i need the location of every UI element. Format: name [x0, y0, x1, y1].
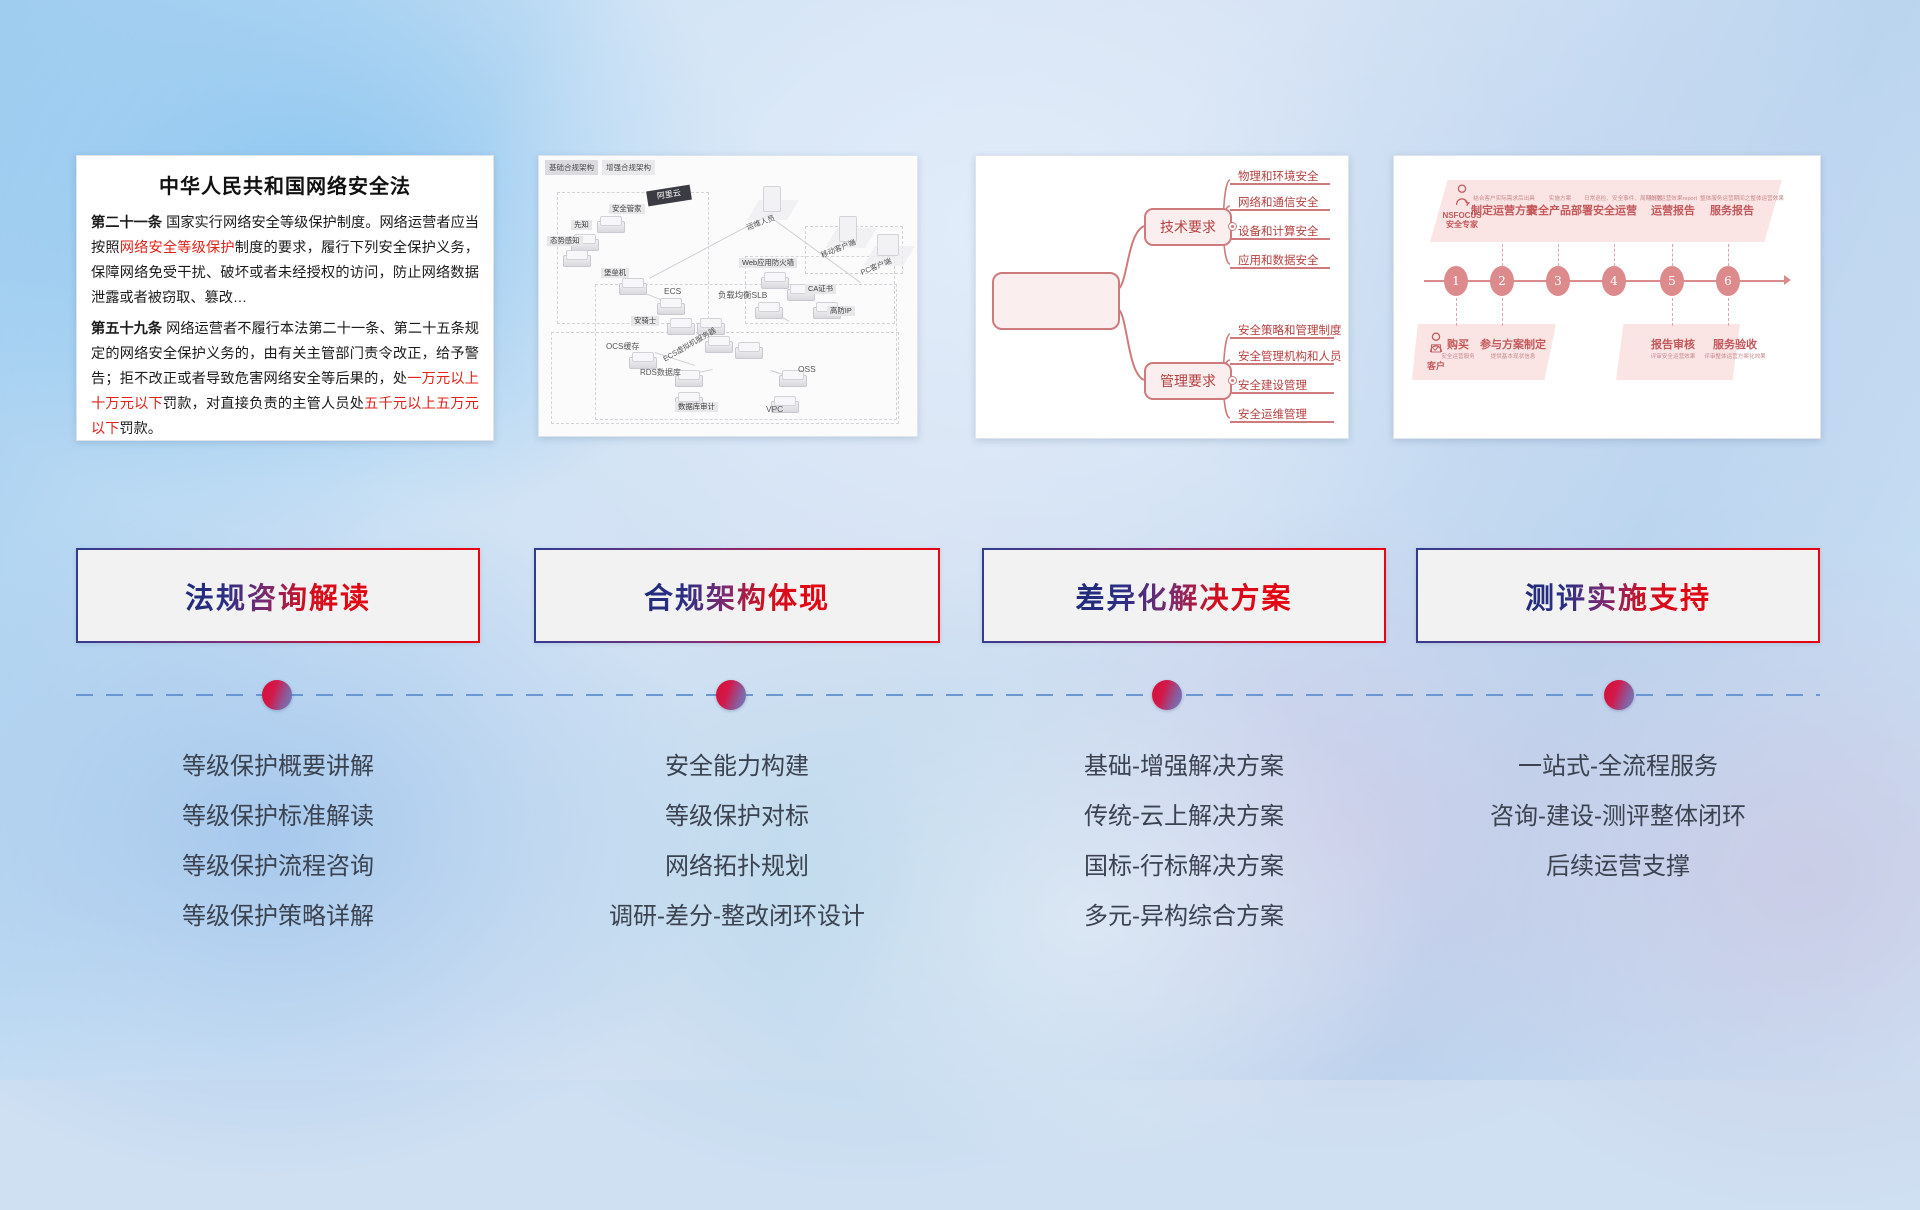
timeline-node-3[interactable]: 3: [1546, 266, 1570, 296]
card-cybersecurity-law: 中华人民共和国网络安全法 第二十一条 国家实行网络安全等级保护制度。网络运营者应…: [76, 155, 494, 441]
timeline-customer-step-1-title: 购买: [1436, 336, 1480, 352]
timeline-node-5[interactable]: 5: [1660, 266, 1684, 296]
timeline-customer-step-2-title: 参与方案制定: [1478, 336, 1548, 352]
mindmap-root-node: [992, 272, 1120, 330]
list-item: 等级保护概要讲解: [76, 742, 480, 792]
timeline-customer-step-2-desc: 提供基本现状信息: [1478, 352, 1548, 360]
section-title-box-3[interactable]: 差异化解决方案: [982, 548, 1386, 643]
law-title: 中华人民共和国网络安全法: [91, 170, 479, 199]
mindmap-collapse-dot-management[interactable]: [1228, 376, 1237, 385]
list-item: 基础-增强解决方案: [982, 742, 1386, 792]
timeline-node-1[interactable]: 1: [1444, 266, 1468, 296]
timeline-customer-step-1-desc: 安全运营服务: [1436, 352, 1480, 360]
feature-list-2: 安全能力构建 等级保护对标 网络拓扑规划 调研-差分-整改闭环设计: [534, 742, 940, 942]
feature-list-1: 等级保护概要讲解 等级保护标准解读 等级保护流程咨询 等级保护策略详解: [76, 742, 480, 942]
architecture-icon-pc: [877, 234, 899, 256]
card-service-timeline: NSFOCUS 安全专家 客户 1 2 3 4 5 6: [1393, 155, 1821, 439]
mindmap-branch-technical: 技术要求: [1144, 208, 1232, 246]
timeline-connector-c2: [1502, 298, 1503, 326]
architecture-node-bastion: [619, 278, 645, 294]
law-article-59-text-c: 罚款。: [119, 421, 162, 437]
list-item: 等级保护标准解读: [76, 792, 480, 842]
architecture-label-vpc: VPC: [763, 404, 786, 415]
timeline-customer-step-2: 参与方案制定 提供基本现状信息: [1478, 336, 1548, 360]
rail-dot-1[interactable]: [262, 680, 292, 710]
timeline-node-2[interactable]: 2: [1490, 266, 1514, 296]
mindmap-leaf-org: 安全管理机构和人员: [1238, 348, 1342, 364]
timeline-customer-role: 客户: [1416, 359, 1456, 372]
section-title-text-4: 测评实施支持: [1525, 575, 1711, 617]
timeline-customer-step-3: 报告审核 评审安全运营效果: [1642, 336, 1704, 360]
timeline-customer-step-3-title: 报告审核: [1642, 336, 1704, 352]
architecture-label-db-audit: 数据库审计: [675, 402, 718, 412]
feature-list-3: 基础-增强解决方案 传统-云上解决方案 国标-行标解决方案 多元-异构综合方案: [982, 742, 1386, 942]
tab-basic-architecture[interactable]: 基础合规架构: [545, 160, 598, 175]
tab-enhanced-architecture[interactable]: 增强合规架构: [602, 160, 655, 175]
law-article-21: 第二十一条 国家实行网络安全等级保护制度。网络运营者应当按照网络安全等级保护制度…: [91, 211, 479, 311]
section-title-box-2[interactable]: 合规架构体现: [534, 548, 940, 643]
mindmap-collapse-dot-technical[interactable]: [1228, 222, 1237, 231]
slide-stage: 中华人民共和国网络安全法 第二十一条 国家实行网络安全等级保护制度。网络运营者应…: [0, 0, 1920, 1080]
timeline-step-5: 阶段运营效果report 运营报告: [1642, 194, 1704, 218]
timeline-step-6-title: 服务报告: [1700, 202, 1764, 218]
architecture-label-ca: CA证书: [805, 284, 836, 294]
card-djcp-mindmap: 技术要求 管理要求 物理和环境安全 网络和通信安全 设备和计算安全 应用和数据安…: [975, 155, 1349, 439]
mindmap-branch-management: 管理要求: [1144, 362, 1232, 400]
list-item: 网络拓扑规划: [534, 842, 940, 892]
architecture-label-oss: OSS: [795, 364, 819, 375]
list-item: 国标-行标解决方案: [982, 842, 1386, 892]
architecture-label-anqishi: 安骑士: [631, 316, 659, 326]
timeline-dashed-rail: [76, 694, 1820, 696]
timeline-connector-4: [1614, 244, 1615, 266]
mindmap-leaf-ops: 安全运维管理: [1238, 406, 1307, 422]
timeline-customer-step-4-title: 服务验收: [1702, 336, 1768, 352]
architecture-label-waf: Web应用防火墙: [739, 258, 797, 268]
timeline-step-5-desc: 阶段运营效果report: [1642, 194, 1704, 202]
mindmap-leafline-physical: [1230, 183, 1330, 185]
law-article-21-highlight: 网络安全等级保护: [120, 240, 235, 256]
timeline-connector-c1: [1456, 298, 1457, 326]
timeline-connector-2: [1502, 244, 1503, 266]
architecture-tabs: 基础合规架构 增强合规架构: [545, 160, 655, 175]
list-item: 调研-差分-整改闭环设计: [534, 892, 940, 942]
timeline-expert-role: 安全专家: [1440, 220, 1484, 229]
architecture-node-ecs-vm-c: [735, 342, 761, 358]
list-item: 等级保护流程咨询: [76, 842, 480, 892]
section-title-text-3: 差异化解决方案: [1075, 575, 1292, 617]
architecture-icon-ops-person: [763, 186, 781, 212]
timeline-customer-step-3-desc: 评审安全运营效果: [1642, 352, 1704, 360]
architecture-label-situational: 态势感知: [547, 236, 583, 246]
mindmap-leafline-policy: [1230, 337, 1334, 339]
architecture-node-situational: [563, 250, 589, 266]
architecture-diagram: 基础合规架构 增强合规架构 阿里云 运维人员 移动客户端: [539, 156, 917, 436]
mindmap-leaf-physical: 物理和环境安全: [1238, 168, 1319, 184]
mindmap-leaf-network: 网络和通信安全: [1238, 194, 1319, 210]
architecture-node-ocs: [629, 352, 655, 368]
architecture-label-xianzhi: 先知: [571, 220, 592, 230]
timeline-connector-3: [1558, 244, 1559, 266]
rail-dot-2[interactable]: [716, 680, 746, 710]
timeline-step-6: 整体服务运营期间之整体运营效果 服务报告: [1700, 194, 1764, 218]
list-item: 等级保护对标: [534, 792, 940, 842]
law-article-59-label: 第五十九条: [91, 321, 162, 337]
mindmap-leafline-build: [1230, 392, 1334, 394]
law-article-21-label: 第二十一条: [91, 215, 162, 231]
architecture-node-ecs: [657, 298, 683, 314]
section-title-box-1[interactable]: 法规咨询解读: [76, 548, 480, 643]
mindmap-leaf-build: 安全建设管理: [1238, 377, 1307, 393]
mindmap: 技术要求 管理要求 物理和环境安全 网络和通信安全 设备和计算安全 应用和数据安…: [976, 156, 1348, 438]
mindmap-leafline-device: [1230, 238, 1330, 240]
list-item: 咨询-建设-测评整体闭环: [1416, 792, 1820, 842]
timeline-step-6-desc: 整体服务运营期间之整体运营效果: [1700, 194, 1764, 202]
list-item: 安全能力构建: [534, 742, 940, 792]
architecture-node-waf: [761, 272, 787, 288]
timeline-arrow-icon: [1784, 275, 1791, 285]
timeline-node-6[interactable]: 6: [1716, 266, 1740, 296]
architecture-label-bastion: 堡垒机: [601, 268, 629, 278]
mindmap-leafline-application: [1230, 267, 1330, 269]
mindmap-leafline-network: [1230, 209, 1330, 211]
law-article-59: 第五十九条 网络运营者不履行本法第二十一条、第二十五条规定的网络安全保护义务的，…: [91, 317, 479, 441]
timeline-connector-c3: [1672, 298, 1673, 326]
list-item: 传统-云上解决方案: [982, 792, 1386, 842]
architecture-label-slb: 负载均衡SLB: [715, 290, 770, 301]
list-item: 多元-异构综合方案: [982, 892, 1386, 942]
timeline-step-4: 日常巡检、安全事件、周期处置 安全运营: [1584, 194, 1646, 218]
timeline-step-4-desc: 日常巡检、安全事件、周期处置: [1584, 194, 1646, 202]
timeline-connector-5: [1672, 244, 1673, 266]
rail-dot-3[interactable]: [1152, 680, 1182, 710]
rail-dot-4[interactable]: [1604, 680, 1634, 710]
timeline-customer-step-1: 购买 安全运营服务: [1436, 336, 1480, 360]
list-item: 等级保护策略详解: [76, 892, 480, 942]
timeline-connector-6: [1728, 244, 1729, 266]
section-title-text-1: 法规咨询解读: [185, 575, 371, 617]
architecture-node-anqishi: [667, 318, 693, 334]
list-item: 后续运营支撑: [1416, 842, 1820, 892]
timeline-customer-step-4: 服务验收 评审整体运营方案化效果: [1702, 336, 1768, 360]
law-article-59-text-b: 罚款，对直接负责的主管人员处: [163, 396, 364, 412]
service-timeline: NSFOCUS 安全专家 客户 1 2 3 4 5 6: [1394, 156, 1820, 438]
feature-list-4: 一站式-全流程服务 咨询-建设-测评整体闭环 后续运营支撑: [1416, 742, 1820, 892]
architecture-label-rds: RDS数据库: [637, 368, 684, 379]
mindmap-leaf-application: 应用和数据安全: [1238, 252, 1319, 268]
architecture-node-security-butler: [597, 216, 623, 232]
timeline-customer-step-4-desc: 评审整体运营方案化效果: [1702, 352, 1768, 360]
card-compliance-architecture: 基础合规架构 增强合规架构 阿里云 运维人员 移动客户端: [538, 155, 918, 437]
section-title-box-4[interactable]: 测评实施支持: [1416, 548, 1820, 643]
timeline-step-4-title: 安全运营: [1584, 202, 1646, 218]
architecture-label-ocs: OCS缓存: [603, 342, 642, 353]
mindmap-leaf-device: 设备和计算安全: [1238, 223, 1319, 239]
mindmap-leaf-policy: 安全策略和管理制度: [1238, 322, 1342, 338]
architecture-label-anti-ddos: 高防IP: [827, 306, 855, 316]
mindmap-leafline-org: [1230, 363, 1334, 365]
timeline-node-4[interactable]: 4: [1602, 266, 1626, 296]
mindmap-leafline-ops: [1230, 421, 1334, 423]
architecture-label-security-butler: 安全管家: [609, 204, 645, 214]
timeline-connector-c4: [1728, 298, 1729, 326]
architecture-node-slb: [755, 302, 781, 318]
section-title-text-2: 合规架构体现: [644, 575, 830, 617]
architecture-label-ecs: ECS: [661, 286, 684, 297]
list-item: 一站式-全流程服务: [1416, 742, 1820, 792]
timeline-step-5-title: 运营报告: [1642, 202, 1704, 218]
